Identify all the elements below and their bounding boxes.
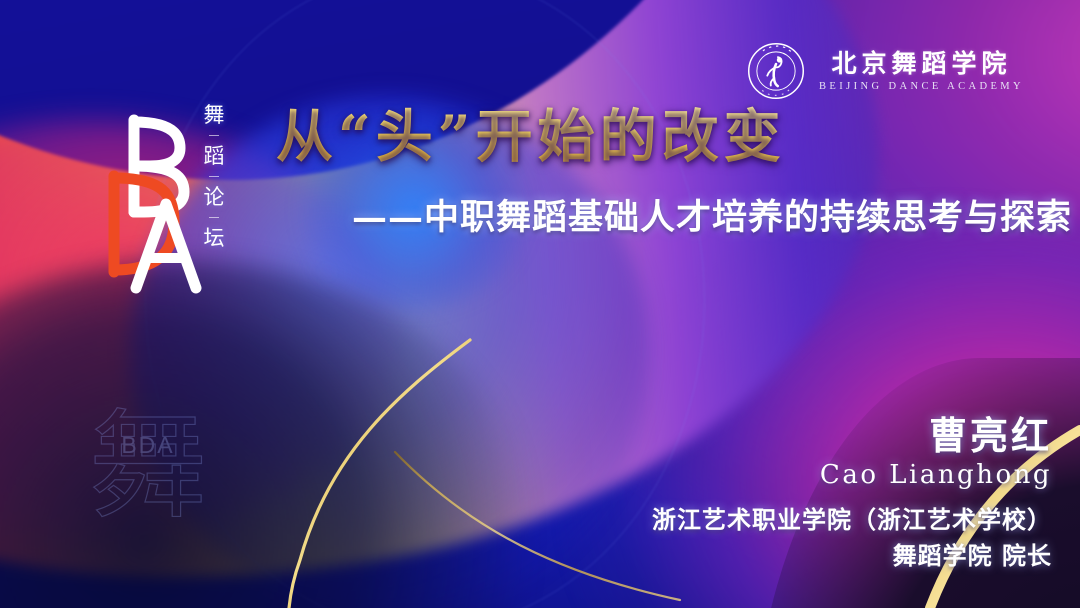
- forum-separator-2: [209, 176, 219, 177]
- academy-logo-block: 北京舞蹈学院 BEIJING DANCE ACADEMY: [747, 42, 1024, 100]
- forum-char-4: 坛: [204, 227, 225, 249]
- forum-char-2: 蹈: [204, 145, 225, 167]
- dance-watermark: 舞 BDA: [88, 392, 208, 540]
- forum-separator-3: [209, 217, 219, 218]
- presenter-role: 舞蹈学院 院长: [652, 538, 1052, 574]
- presenter-organization: 浙江艺术职业学院（浙江艺术学校）: [652, 502, 1052, 538]
- academy-name-block: 北京舞蹈学院 BEIJING DANCE ACADEMY: [819, 50, 1024, 93]
- forum-separator-1: [209, 135, 219, 136]
- watermark-letters: BDA: [88, 432, 208, 459]
- academy-name-cn: 北京舞蹈学院: [832, 50, 1012, 79]
- forum-vertical-label: 舞 蹈 论 坛: [196, 104, 232, 249]
- beijing-dance-academy-seal-icon: [747, 42, 805, 100]
- slide-subtitle: ——中职舞蹈基础人才培养的持续思考与探索: [352, 196, 1072, 240]
- presenter-name-cn: 曹亮红: [652, 414, 1052, 458]
- forum-char-1: 舞: [204, 104, 225, 126]
- presenter-name-pinyin: Cao Lianghong: [652, 459, 1052, 492]
- academy-name-en: BEIJING DANCE ACADEMY: [819, 81, 1024, 92]
- forum-char-3: 论: [204, 186, 225, 208]
- watermark-char: 舞: [88, 392, 208, 540]
- slide-main-title: 从“头”开始的改变: [276, 105, 786, 169]
- presenter-block: 曹亮红 Cao Lianghong 浙江艺术职业学院（浙江艺术学校） 舞蹈学院 …: [652, 414, 1052, 574]
- presentation-slide: 舞 蹈 论 坛 舞 BDA: [0, 0, 1080, 608]
